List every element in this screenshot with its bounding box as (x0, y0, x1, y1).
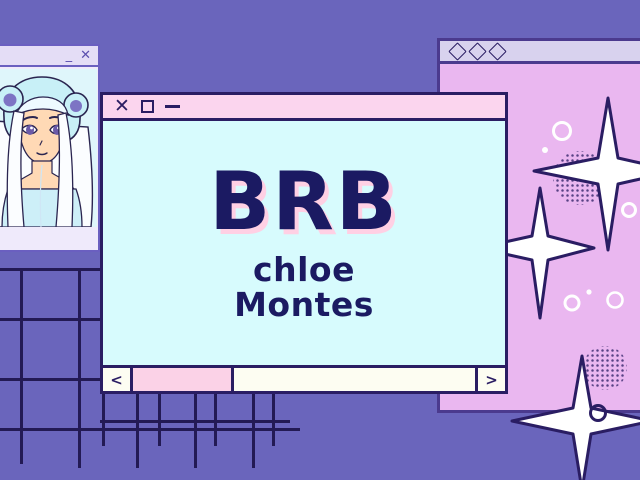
scroll-right-button[interactable]: > (475, 368, 505, 391)
main-window-titlebar[interactable]: ✕ (103, 95, 505, 121)
minimize-icon[interactable]: _ (66, 49, 73, 62)
main-window[interactable]: ✕ BRB chloe Montes < > (100, 92, 508, 394)
left-avatar-window[interactable]: _ ✕ (0, 44, 100, 252)
minimize-icon[interactable] (165, 105, 180, 108)
close-icon[interactable]: ✕ (114, 97, 130, 116)
diamond-sparkle-icon (468, 42, 486, 60)
left-window-titlebar[interactable]: _ ✕ (0, 46, 98, 67)
name-line-2: Montes (234, 288, 374, 323)
headline-text: BRB (209, 163, 399, 241)
avatar (0, 69, 97, 227)
maximize-icon[interactable] (141, 100, 154, 113)
diamond-sparkle-icon (488, 42, 506, 60)
main-window-canvas: BRB chloe Montes (103, 121, 505, 365)
right-window-titlebar[interactable] (440, 41, 640, 64)
diamond-sparkle-icon (448, 42, 466, 60)
horizontal-scrollbar[interactable]: < > (103, 365, 505, 391)
scroll-thumb[interactable] (133, 368, 234, 391)
scroll-track[interactable] (133, 368, 475, 391)
name-line-1: chloe (253, 253, 355, 288)
scroll-left-button[interactable]: < (103, 368, 133, 391)
close-icon[interactable]: ✕ (80, 49, 91, 62)
screen-stage: _ ✕ (0, 0, 640, 480)
